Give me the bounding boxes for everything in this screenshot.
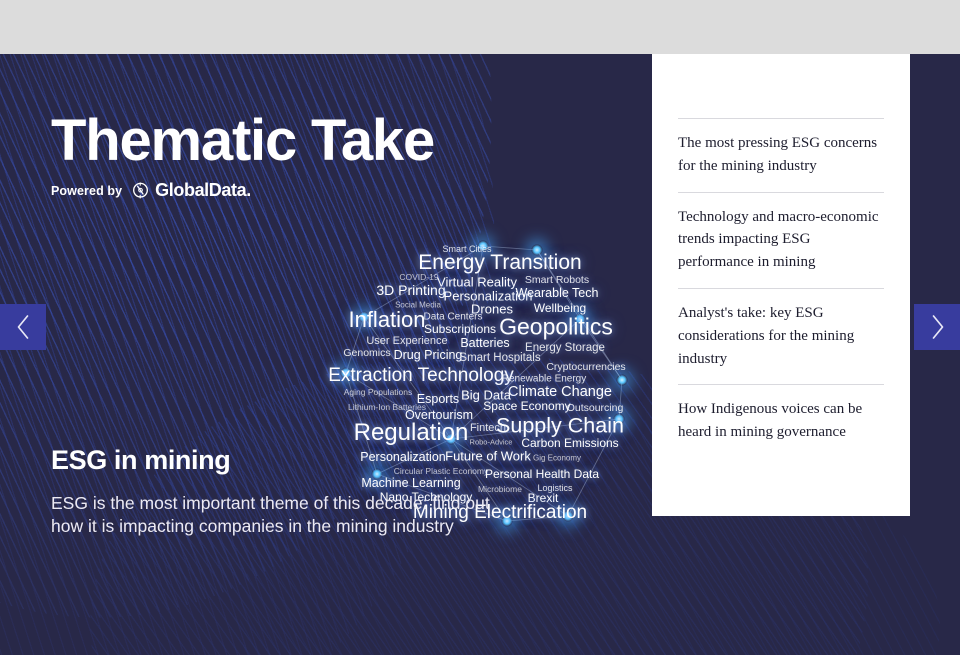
article-list: The most pressing ESG concerns for the m… [652, 54, 910, 458]
word-cloud-term: Energy Transition [418, 251, 581, 275]
word-cloud-term: Batteries [460, 336, 509, 350]
word-cloud-term: Genomics [343, 347, 390, 359]
article-link[interactable]: Technology and macro-economic trends imp… [678, 192, 884, 288]
globaldata-wordmark: GlobalData. [155, 180, 251, 201]
word-cloud-term: Inflation [348, 307, 425, 333]
previous-slide-button[interactable] [0, 304, 46, 350]
word-cloud-term: Aging Populations [344, 387, 413, 397]
word-cloud-term: Cryptocurrencies [546, 361, 625, 373]
next-slide-button[interactable] [914, 304, 960, 350]
word-cloud-term: Subscriptions [424, 322, 496, 336]
article-link[interactable]: The most pressing ESG concerns for the m… [678, 118, 884, 192]
word-cloud-term: Smart Hospitals [459, 352, 540, 364]
word-cloud-term: Smart Robots [525, 274, 589, 286]
powered-by-lockup: Powered by GlobalData. [51, 180, 251, 201]
word-cloud-term: Gig Economy [533, 454, 581, 463]
slide-subtitle: ESG in mining [51, 445, 230, 476]
word-cloud-term: Outsourcing [567, 402, 624, 414]
theme-word-cloud: Smart CitiesEnergy TransitionCOVID-19Vir… [325, 184, 655, 544]
word-cloud-term: COVID-19 [399, 272, 438, 282]
word-cloud-term: Future of Work [445, 449, 531, 464]
word-cloud-term: Robo-Advice [470, 438, 513, 447]
word-cloud-term: Supply Chain [496, 414, 624, 439]
word-cloud-term: Geopolitics [499, 314, 613, 341]
article-link[interactable]: Analyst's take: key ESG considerations f… [678, 288, 884, 384]
word-cloud-term: Virtual Reality [437, 275, 517, 290]
word-cloud-node [617, 375, 628, 386]
globaldata-logo-icon [131, 181, 150, 200]
word-cloud-term: Wearable Tech [516, 286, 599, 300]
word-cloud-term: Climate Change [508, 384, 612, 400]
thematic-take-slide: Thematic Take Powered by GlobalData. Sma… [0, 0, 960, 655]
word-cloud-term: Machine Learning [361, 476, 460, 490]
word-cloud-term: Carbon Emissions [521, 436, 618, 450]
word-cloud-term: Circular Plastic Economy [394, 466, 488, 476]
article-list-panel: The most pressing ESG concerns for the m… [652, 54, 910, 516]
word-cloud-term: Space Economy [483, 399, 570, 413]
word-cloud-term: Personal Health Data [485, 467, 599, 481]
browser-chrome-strip [0, 0, 960, 54]
powered-by-label: Powered by [51, 184, 122, 198]
word-cloud-term: Extraction Technology [328, 365, 514, 387]
globaldata-logo: GlobalData. [131, 180, 251, 201]
word-cloud-term: Drug Pricing [394, 348, 463, 362]
article-link[interactable]: How Indigenous voices can be heard in mi… [678, 384, 884, 458]
chevron-left-icon [15, 314, 32, 340]
chevron-right-icon [929, 314, 946, 340]
word-cloud-term: Personalization [360, 450, 445, 464]
word-cloud-term: User Experience [366, 335, 447, 347]
page-title: Thematic Take [51, 112, 434, 170]
word-cloud-term: Regulation [354, 419, 469, 447]
slide-description: ESG is the most important theme of this … [51, 492, 521, 538]
word-cloud-term: Data Centers [424, 312, 483, 323]
word-cloud-term: Renewable Energy [502, 374, 587, 385]
word-cloud-term: 3D Printing [376, 282, 445, 298]
